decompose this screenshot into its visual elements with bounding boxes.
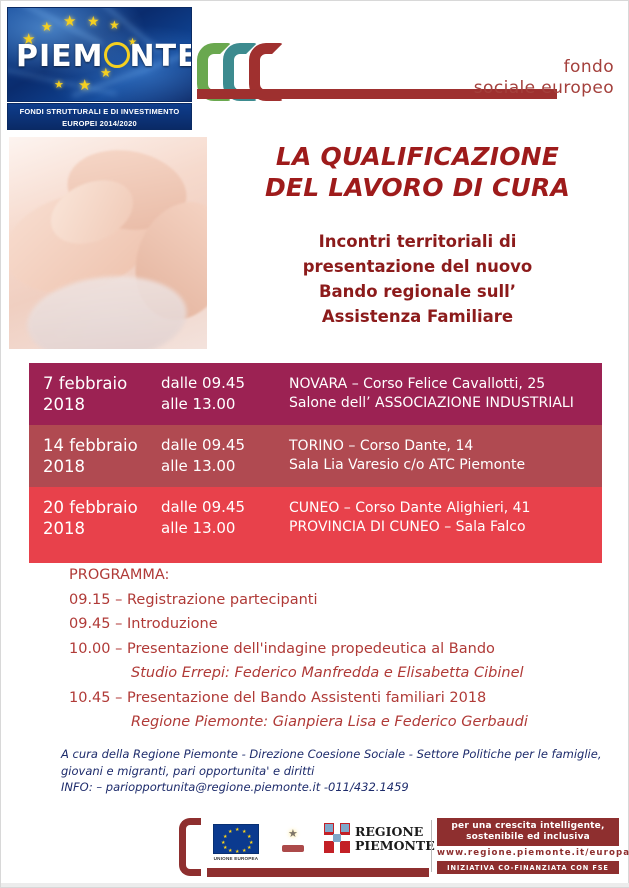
page-subtitle-line1: Incontri territoriali di — [215, 229, 620, 254]
schedule-time-line2: alle 13.00 — [161, 394, 289, 415]
schedule-time-line1: dalle 09.45 — [161, 373, 289, 394]
info-line-2: giovani e migranti, pari opportunita' e … — [61, 763, 606, 780]
fse-label: fondo sociale europeo — [394, 57, 614, 99]
regione-piemonte-shield-icon — [324, 823, 350, 853]
schedule-time-line1: dalle 09.45 — [161, 497, 289, 518]
italian-republic-emblem-icon: ★ — [279, 824, 307, 856]
schedule-date-line2: 2018 — [43, 394, 161, 415]
program-line-3: 10.00 – Presentazione dell'indagine prop… — [69, 637, 614, 662]
schedule-date-line1: 7 febbraio — [43, 373, 161, 394]
funds-caption-line2: EUROPEI 2014/2020 — [8, 118, 191, 130]
funds-caption: FONDI STRUTTURALI E DI INVESTIMENTO EURO… — [7, 103, 192, 130]
bottom-edge — [1, 883, 629, 887]
schedule-time: dalle 09.45 alle 13.00 — [161, 435, 289, 477]
program-line-2: 09.45 – Introduzione — [69, 612, 614, 637]
piemonte-wordmark-tail: NTE — [130, 39, 193, 74]
eu-star-icon: ★ — [63, 14, 76, 29]
table-row: 14 febbraio 2018 dalle 09.45 alle 13.00 … — [29, 425, 602, 487]
piemonte-logo: ★ ★ ★ ★ ★ ★ ★ ★ ★ PIEMNTE — [7, 7, 192, 102]
eu-flag-icon: ★ ★ ★ ★ ★ ★ ★ ★ ★ ★ ★ ★ — [213, 824, 259, 854]
schedule-place: TORINO – Corso Dante, 14 Sala Lia Varesi… — [289, 437, 602, 475]
schedule-date: 20 febbraio 2018 — [29, 497, 161, 539]
info-contact-line[interactable]: INFO: – pariopportunita@regione.piemonte… — [61, 779, 606, 796]
page-subtitle: Incontri territoriali di presentazione d… — [215, 229, 620, 329]
info-line-1: A cura della Regione Piemonte - Direzion… — [61, 746, 606, 763]
footer-logo-bar: ★ ★ ★ ★ ★ ★ ★ ★ ★ ★ ★ ★ UNIONE EUROPEA ★… — [179, 816, 619, 878]
caring-hands-photo — [9, 137, 207, 349]
footer-slogan-line2: sostenibile ed inclusiva — [437, 832, 619, 843]
schedule-place: CUNEO – Corso Dante Alighieri, 41 PROVIN… — [289, 499, 602, 537]
poster-header: ★ ★ ★ ★ ★ ★ ★ ★ ★ PIEMNTE FONDI STRUTTUR… — [1, 1, 629, 133]
footer-europa-block: per una crescita intelligente, sostenibi… — [437, 818, 619, 874]
schedule-place: NOVARA – Corso Felice Cavallotti, 25 Sal… — [289, 375, 602, 413]
page-title-line2: DEL LAVORO DI CURA — [215, 172, 620, 203]
table-row: 20 febbraio 2018 dalle 09.45 alle 13.00 … — [29, 487, 602, 549]
schedule-time: dalle 09.45 alle 13.00 — [161, 497, 289, 539]
shield-knot — [325, 824, 333, 832]
schedule-time-line2: alle 13.00 — [161, 456, 289, 477]
eu-star-icon: ★ — [109, 19, 120, 31]
footer-bracket-icon — [179, 818, 201, 876]
schedule-date-line2: 2018 — [43, 518, 161, 539]
fse-label-line2: sociale europeo — [394, 78, 614, 99]
footer-url[interactable]: www.regione.piemonte.it/europa2020 — [437, 848, 619, 858]
regione-line2: PIEMONTE — [355, 839, 435, 853]
footer-slogan: per una crescita intelligente, sostenibi… — [437, 818, 619, 846]
funds-caption-line1: FONDI STRUTTURALI E DI INVESTIMENTO — [8, 106, 191, 118]
info-block: A cura della Regione Piemonte - Direzion… — [61, 746, 606, 796]
regione-line1: REGIONE — [355, 825, 435, 839]
table-row: 7 febbraio 2018 dalle 09.45 alle 13.00 N… — [29, 363, 602, 425]
poster-root: ★ ★ ★ ★ ★ ★ ★ ★ ★ PIEMNTE FONDI STRUTTUR… — [0, 0, 629, 888]
page-title: LA QUALIFICAZIONE DEL LAVORO DI CURA — [215, 141, 620, 203]
schedule-table: 7 febbraio 2018 dalle 09.45 alle 13.00 N… — [29, 363, 602, 563]
program-speaker-1: Studio Errepi: Federico Manfredda e Elis… — [69, 661, 614, 686]
shield-knot — [333, 834, 341, 842]
schedule-time-line1: dalle 09.45 — [161, 435, 289, 456]
schedule-table-footer-strip — [29, 549, 602, 563]
schedule-place-line2: Salone dell’ ASSOCIAZIONE INDUSTRIALI — [289, 394, 602, 413]
emblem-ribbon — [282, 845, 304, 852]
schedule-date-line1: 20 febbraio — [43, 497, 161, 518]
footer-divider — [431, 820, 432, 872]
eu-star-icon: ★ — [78, 78, 91, 93]
emblem-star-icon: ★ — [288, 829, 298, 840]
schedule-place-line2: PROVINCIA DI CUNEO – Sala Falco — [289, 518, 602, 537]
eu-star-icon: ★ — [41, 20, 53, 33]
page-subtitle-line3: Bando regionale sull’ — [215, 279, 620, 304]
fse-label-line1: fondo — [394, 57, 614, 78]
schedule-place-line1: TORINO – Corso Dante, 14 — [289, 437, 602, 456]
program-block: PROGRAMMA: 09.15 – Registrazione parteci… — [69, 563, 614, 735]
program-speaker-2: Regione Piemonte: Gianpiera Lisa e Feder… — [69, 710, 614, 735]
footer-initiative-badge: INIZIATIVA CO-FINANZIATA CON FSE — [437, 861, 619, 874]
schedule-date-line2: 2018 — [43, 456, 161, 477]
footer-left-rule — [207, 868, 429, 877]
regione-piemonte-wordmark: REGIONE PIEMONTE — [355, 825, 435, 853]
eu-flag-caption: UNIONE EUROPEA — [206, 856, 266, 861]
schedule-time-line2: alle 13.00 — [161, 518, 289, 539]
piemonte-wordmark-head: PIEM — [16, 39, 104, 74]
page-subtitle-line2: presentazione del nuovo — [215, 254, 620, 279]
title-block: LA QUALIFICAZIONE DEL LAVORO DI CURA Inc… — [215, 141, 620, 329]
program-line-4: 10.45 – Presentazione del Bando Assisten… — [69, 686, 614, 711]
piemonte-wordmark: PIEMNTE — [16, 39, 192, 74]
schedule-time: dalle 09.45 alle 13.00 — [161, 373, 289, 415]
page-title-line1: LA QUALIFICAZIONE — [215, 141, 620, 172]
program-line-1: 09.15 – Registrazione partecipanti — [69, 588, 614, 613]
eu-star-icon: ★ — [87, 14, 100, 28]
eu-star-icon: ★ — [54, 80, 64, 91]
schedule-date: 14 febbraio 2018 — [29, 435, 161, 477]
schedule-date-line1: 14 febbraio — [43, 435, 161, 456]
shield-knot — [341, 824, 349, 832]
page-subtitle-line4: Assistenza Familiare — [215, 304, 620, 329]
schedule-place-line2: Sala Lia Varesio c/o ATC Piemonte — [289, 456, 602, 475]
schedule-date: 7 febbraio 2018 — [29, 373, 161, 415]
footer-slogan-line1: per una crescita intelligente, — [437, 821, 619, 832]
piemonte-ring-icon — [104, 42, 130, 68]
schedule-place-line1: NOVARA – Corso Felice Cavallotti, 25 — [289, 375, 602, 394]
schedule-place-line1: CUNEO – Corso Dante Alighieri, 41 — [289, 499, 602, 518]
program-heading: PROGRAMMA: — [69, 563, 614, 588]
